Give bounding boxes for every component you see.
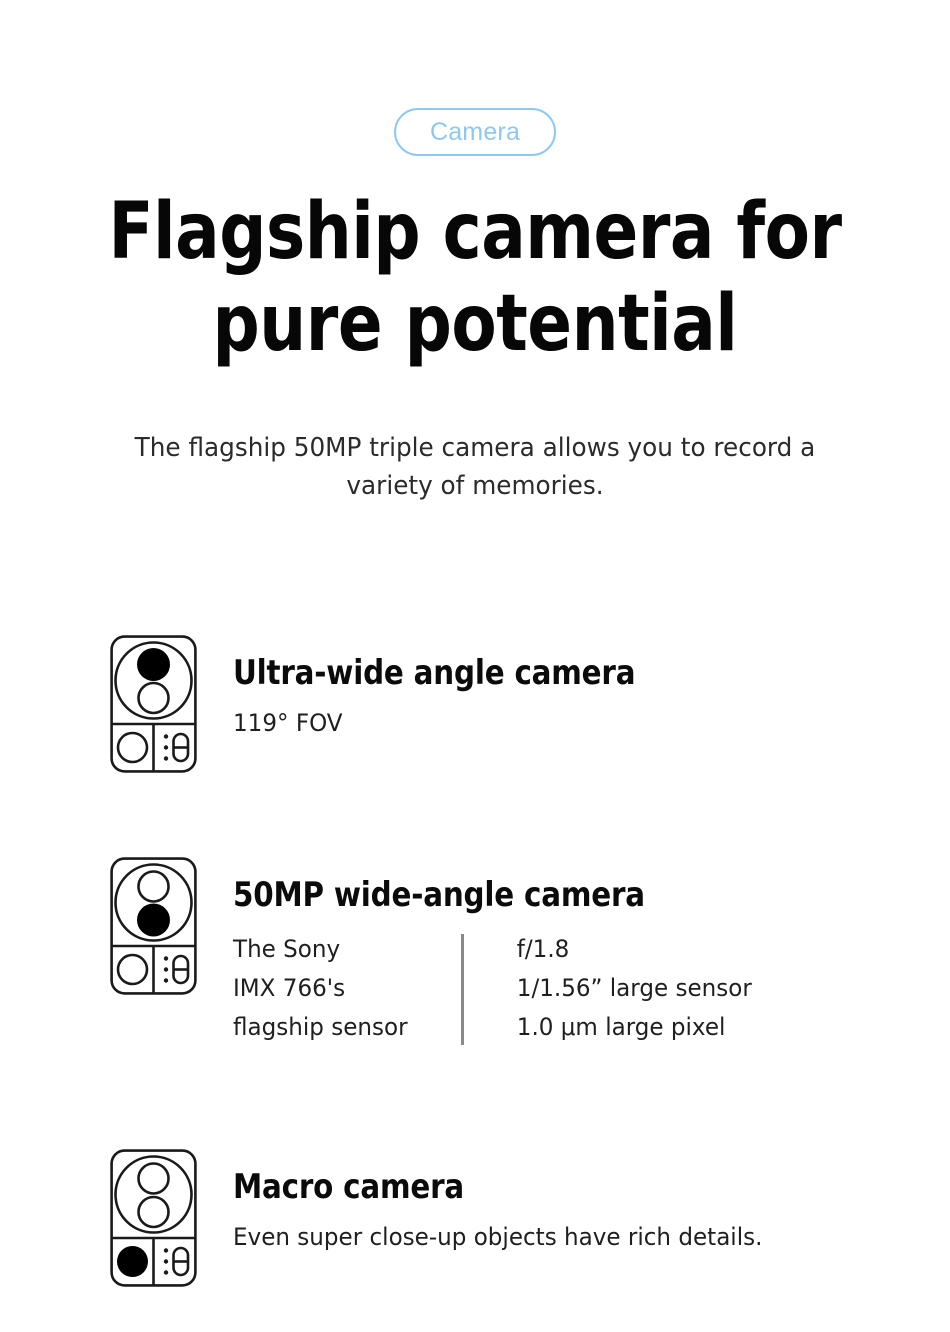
camera-module-icon: [110, 1149, 197, 1287]
camera-module-icon: [110, 857, 197, 995]
feature-row-wide-angle: 50MP wide-angle camera The Sony IMX 766'…: [110, 857, 910, 1047]
feature-title: 50MP wide-angle camera: [233, 877, 883, 914]
feature-text-block: Ultra-wide angle camera 119° FOV: [233, 635, 910, 738]
spec-column-right: f/1.8 1/1.56” large sensor 1.0 μm large …: [464, 930, 892, 1047]
feature-text-block: Macro camera Even super close-up objects…: [233, 1149, 910, 1252]
feature-row-macro: Macro camera Even super close-up objects…: [110, 1149, 910, 1287]
spec-column-left: The Sony IMX 766's flagship sensor: [233, 930, 452, 1047]
badge-row: Camera: [0, 108, 950, 156]
feature-title: Macro camera: [233, 1169, 883, 1206]
feature-subtitle: 119° FOV: [233, 708, 883, 738]
feature-text-block: 50MP wide-angle camera The Sony IMX 766'…: [233, 857, 910, 1047]
spec-columns: The Sony IMX 766's flagship sensor f/1.8…: [233, 930, 910, 1047]
feature-subtitle: Even super close-up objects have rich de…: [233, 1222, 883, 1252]
feature-title: Ultra-wide angle camera: [233, 655, 883, 692]
page-subtitle: The flagship 50MP triple camera allows y…: [105, 430, 846, 505]
category-badge[interactable]: Camera: [394, 108, 556, 156]
camera-module-icon: [110, 635, 197, 773]
page-title: Flagship camera for pure potential: [85, 186, 865, 370]
feature-row-ultra-wide: Ultra-wide angle camera 119° FOV: [110, 635, 910, 773]
